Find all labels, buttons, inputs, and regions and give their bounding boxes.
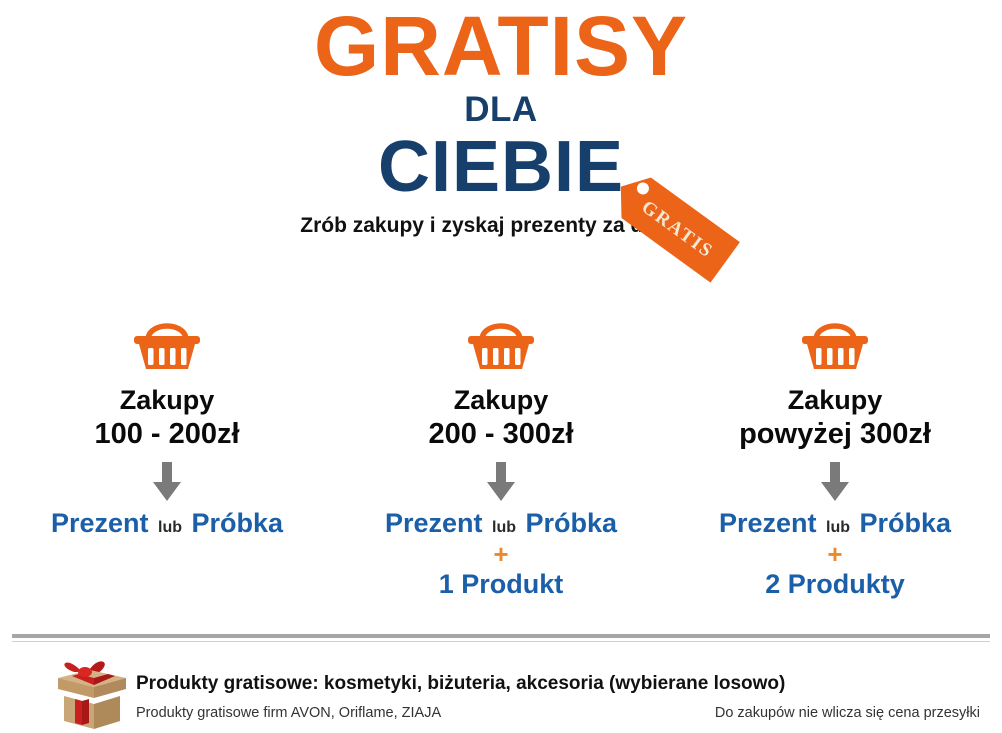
reward-first-option: Prezent (51, 508, 149, 538)
footer-main-text: Produkty gratisowe: kosmetyki, biżuteria… (136, 673, 785, 695)
tier-reward: Prezent lub Próbka (334, 508, 668, 539)
plus-sign: + (668, 541, 1002, 567)
footer: Produkty gratisowe: kosmetyki, biżuteria… (0, 648, 1002, 733)
reward-first-option: Prezent (719, 508, 817, 538)
tier-range: 200 - 300zł (334, 417, 668, 452)
page-title-ciebie: CIEBIE (0, 130, 1002, 206)
reward-first-option: Prezent (385, 508, 483, 538)
reward-conjunction: lub (824, 519, 852, 536)
shopping-basket-icon (668, 312, 1002, 374)
tier-extra-reward: 1 Produkt (334, 569, 668, 600)
tier-column-2: Zakupy 200 - 300zł Prezent lub Próbka + … (334, 312, 668, 600)
reward-second-option: Próbka (860, 508, 952, 538)
reward-second-option: Próbka (192, 508, 284, 538)
plus-sign: + (334, 541, 668, 567)
tier-label: Zakupy (668, 384, 1002, 417)
gift-box-icon (48, 652, 132, 732)
tier-range: powyżej 300zł (668, 417, 1002, 452)
arrow-down-icon (668, 458, 1002, 506)
tier-reward: Prezent lub Próbka (0, 508, 334, 539)
shopping-basket-icon (334, 312, 668, 374)
tier-column-3: Zakupy powyżej 300zł Prezent lub Próbka … (668, 312, 1002, 600)
tier-reward: Prezent lub Próbka (668, 508, 1002, 539)
tier-columns: Zakupy 100 - 200zł Prezent lub Próbka (0, 312, 1002, 600)
tier-extra-reward: 2 Produkty (668, 569, 1002, 600)
divider-thin-line (12, 641, 990, 642)
tier-label: Zakupy (0, 384, 334, 417)
shopping-basket-icon (0, 312, 334, 374)
reward-conjunction: lub (490, 519, 518, 536)
footer-shipping-note: Do zakupów nie wlicza się cena przesyłki (715, 705, 980, 721)
reward-conjunction: lub (156, 519, 184, 536)
reward-second-option: Próbka (526, 508, 618, 538)
tier-range: 100 - 200zł (0, 417, 334, 452)
header: GRATISY DLA CIEBIE Zrób zakupy i zyskaj … (0, 0, 1002, 238)
tier-column-1: Zakupy 100 - 200zł Prezent lub Próbka (0, 312, 334, 600)
page-title-gratisy: GRATISY (0, 0, 1002, 90)
tier-label: Zakupy (334, 384, 668, 417)
tagline: Zrób zakupy i zyskaj prezenty za darmo! (0, 214, 1002, 238)
section-divider (12, 634, 990, 642)
page-title-dla: DLA (0, 92, 1002, 129)
arrow-down-icon (334, 458, 668, 506)
arrow-down-icon (0, 458, 334, 506)
footer-brands-text: Produkty gratisowe firm AVON, Oriflame, … (136, 705, 441, 721)
